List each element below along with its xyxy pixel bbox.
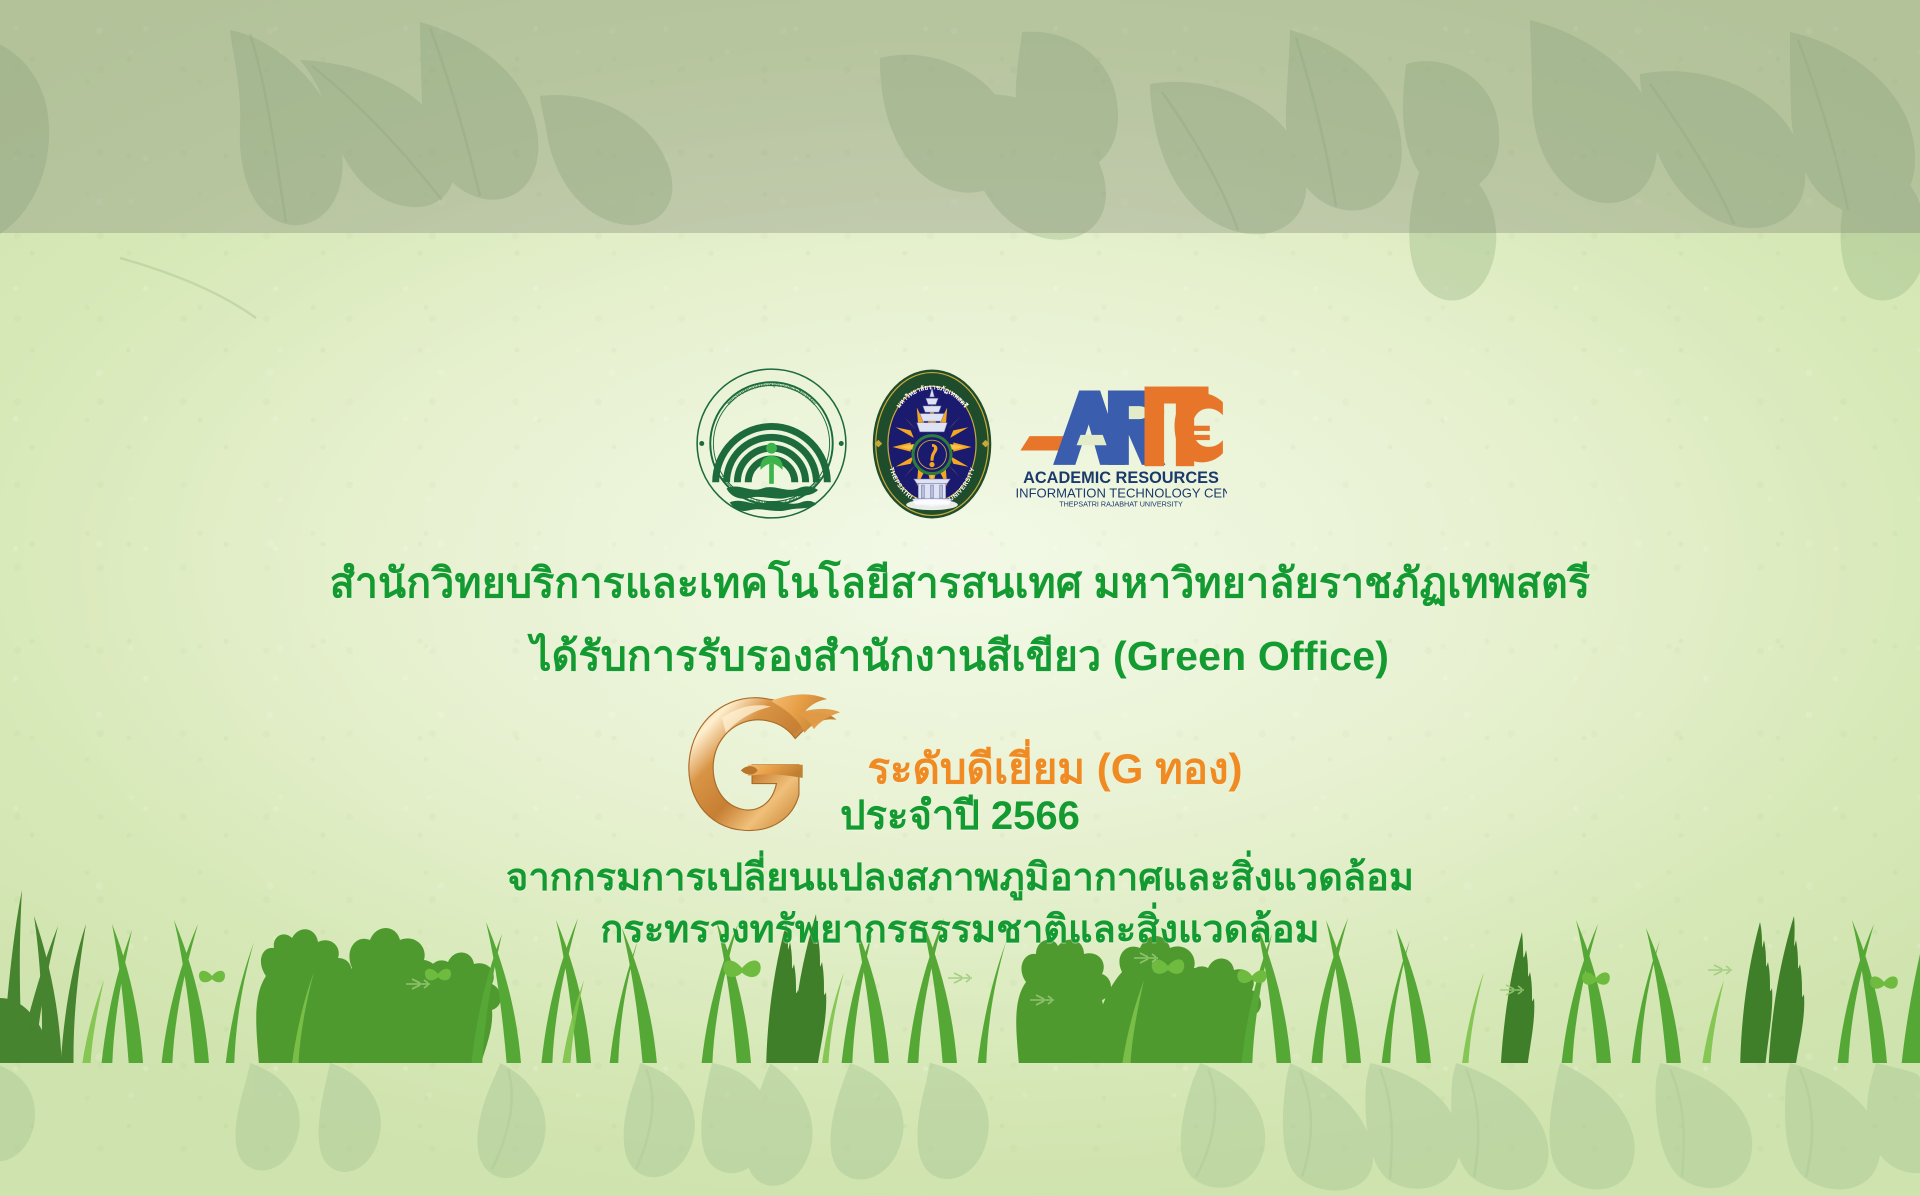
svg-text:กรมการเปลี่ยนแปลงสภาพภูมิอากาศ: กรมการเปลี่ยนแปลงสภาพภูมิอากาศและสิ่งแวด… [725,382,816,406]
department-of-climate-change-and-environment-logo: DEPARTMENT OF CLIMATE CHANGE AND ENVIRON… [694,366,849,521]
poster-stage: DEPARTMENT OF CLIMATE CHANGE AND ENVIRON… [0,0,1920,1196]
thepsatri-rajabhat-university-seal: มหาวิทยาลัยราชภัฏเทพสตรี THEPSATRI RAJAB… [871,368,993,520]
aritc-line2: AND INFORMATION TECHNOLOGY CENTER [1015,485,1227,500]
award-year: ประจำปี 2566 [0,783,1920,847]
award-issuer-line-2: กระทรวงทรัพยากรธรรมชาติและสิ่งแวดล้อม [0,898,1920,959]
aritc-line1: ACADEMIC RESOURCES [1023,469,1219,487]
headline-line-1: สำนักวิทยบริการและเทคโนโลยีสารสนเทศ มหาว… [0,551,1920,616]
aritc-logo: ACADEMIC RESOURCES AND INFORMATION TECHN… [1015,380,1227,508]
logo-row: DEPARTMENT OF CLIMATE CHANGE AND ENVIRON… [0,366,1920,521]
aritc-line3: THEPSATRI RAJABHAT UNIVERSITY [1059,500,1183,507]
